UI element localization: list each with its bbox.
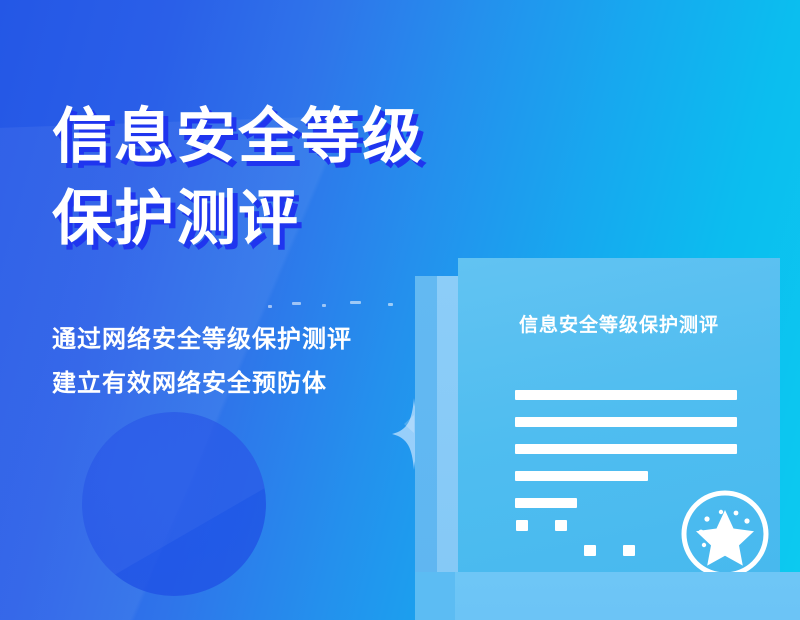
headline-line-2: 保护测评 [52, 178, 572, 260]
subtitle-line-1: 通过网络安全等级保护测评 [52, 318, 472, 362]
document-text-line [515, 498, 577, 508]
particle-dot [268, 305, 272, 308]
bottom-panel-left-segment [415, 572, 457, 620]
document-text-line [515, 417, 737, 427]
document-square-mark [516, 520, 528, 531]
document-text-line [515, 390, 737, 400]
particle-dot [388, 303, 393, 306]
star-seal-icon [679, 488, 771, 580]
document-square-mark [555, 520, 567, 531]
document-square-mark [623, 545, 635, 556]
document-square-mark [584, 545, 596, 556]
particle-dot [292, 302, 301, 305]
subtitle-line-2: 建立有效网络安全预防体 [52, 362, 472, 406]
background-circle-decor [82, 412, 266, 596]
particle-dot [350, 301, 361, 304]
document-text-line [515, 444, 737, 454]
subtitle: 通过网络安全等级保护测评 建立有效网络安全预防体 [52, 318, 472, 406]
document-stack-illustration: 信息安全等级保护测评 [415, 258, 780, 620]
bottom-panel [455, 572, 800, 620]
document-title: 信息安全等级保护测评 [458, 310, 780, 337]
particle-dot [322, 304, 326, 307]
promotional-banner: 信息安全等级 保护测评 通过网络安全等级保护测评 建立有效网络安全预防体 信息安… [0, 0, 800, 620]
page-title: 信息安全等级 保护测评 [52, 96, 572, 260]
headline-line-1: 信息安全等级 [52, 96, 572, 178]
document-text-line [515, 471, 648, 481]
edge-arrow-decor [404, 415, 414, 433]
